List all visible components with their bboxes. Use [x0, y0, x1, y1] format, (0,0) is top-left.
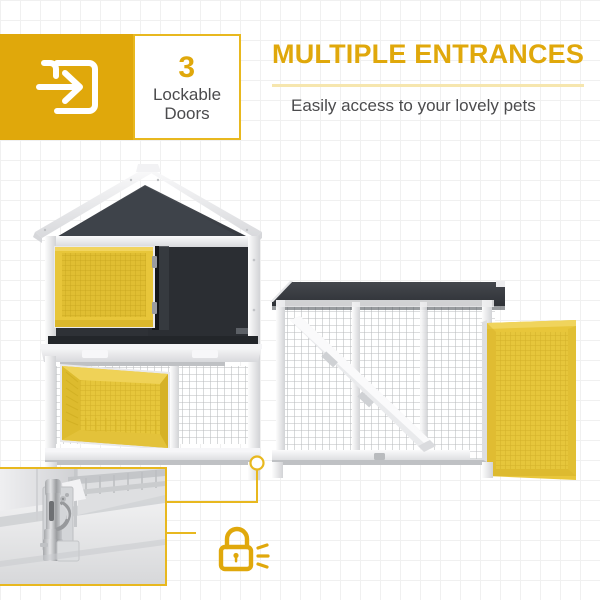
badge-label-line2: Doors: [164, 104, 209, 123]
badge-count: 3: [178, 51, 195, 85]
callout-dot: [251, 457, 264, 470]
lockable-doors-badge: 3 Lockable Doors: [133, 34, 241, 140]
title-divider: [272, 84, 584, 87]
header-banner: 3 Lockable Doors MULTIPLE ENTRANCES Easi…: [0, 34, 600, 140]
latch-closeup-image: [0, 469, 165, 584]
page-title: MULTIPLE ENTRANCES: [272, 39, 584, 70]
open-padlock-icon-wrap: [213, 521, 275, 583]
enter-arrow-icon-tile: [0, 34, 133, 140]
page-subtitle: Easily access to your lovely pets: [291, 96, 536, 116]
latch-closeup-inset: [0, 467, 167, 586]
run-side-door: [470, 320, 576, 480]
badge-label-line1: Lockable: [153, 85, 221, 104]
enter-arrow-icon: [31, 51, 103, 123]
open-padlock-icon: [213, 521, 275, 583]
upper-front-door: [54, 246, 157, 328]
